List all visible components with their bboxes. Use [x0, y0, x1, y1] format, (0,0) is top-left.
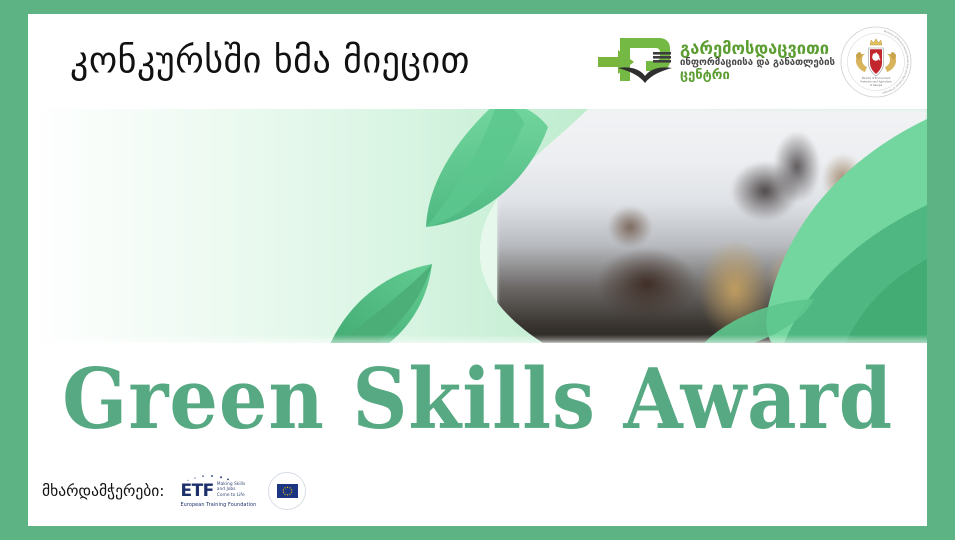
- etf-tagline: Making Skillsand JobsCome to Life: [217, 482, 245, 501]
- poster-card: კონკურსში ხმა მიეცით გარემოსდაცვითი: [28, 14, 927, 526]
- page-title: Green Skills Award: [62, 358, 893, 441]
- svg-text:of Georgia: of Georgia: [870, 83, 883, 86]
- supporters-label: მხარდამჭერები:: [42, 482, 164, 500]
- band-bottom-fade: [28, 329, 927, 343]
- logo-line-1: გარემოსდაცვითი: [680, 41, 835, 58]
- environmental-center-logo-text: გარემოსდაცვითი ინფორმაციისა და განათლები…: [680, 41, 835, 83]
- title-area: Green Skills Award: [28, 343, 927, 456]
- european-union-logo: [268, 472, 306, 510]
- open-book-logo-mark: [616, 35, 674, 89]
- etf-wordmark-row: ETF Making Skillsand JobsCome to Life: [180, 482, 245, 501]
- logo-line-2: ინფორმაციისა და განათლების: [680, 58, 835, 68]
- georgia-ministry-coat-of-arms: Ministry of Environmental Protection and…: [840, 26, 912, 98]
- poster-root: კონკურსში ხმა მიეცით გარემოსდაცვითი: [0, 0, 955, 540]
- logo-line-3: ცენტრი: [680, 69, 835, 82]
- eu-flag: [277, 484, 298, 498]
- etf-full-name: European Training Foundation: [180, 503, 256, 508]
- supporters-footer: მხარდამჭერები: ETF Making Skillsand Jo: [28, 456, 927, 526]
- leaf-overlay-graphics: [28, 109, 927, 343]
- etf-wordmark: ETF: [180, 483, 213, 500]
- etf-logo: ETF Making Skillsand JobsCome to Life Eu…: [180, 474, 256, 508]
- visual-band: [28, 109, 927, 343]
- poster-header: კონკურსში ხმა მიეცით გარემოსდაცვითი: [28, 14, 927, 109]
- supporter-logo-list: ETF Making Skillsand JobsCome to Life Eu…: [180, 472, 306, 510]
- header-headline: კონკურსში ხმა მიეცით: [70, 42, 470, 80]
- environmental-center-logo: გარემოსდაცვითი ინფორმაციისა და განათლები…: [616, 35, 835, 89]
